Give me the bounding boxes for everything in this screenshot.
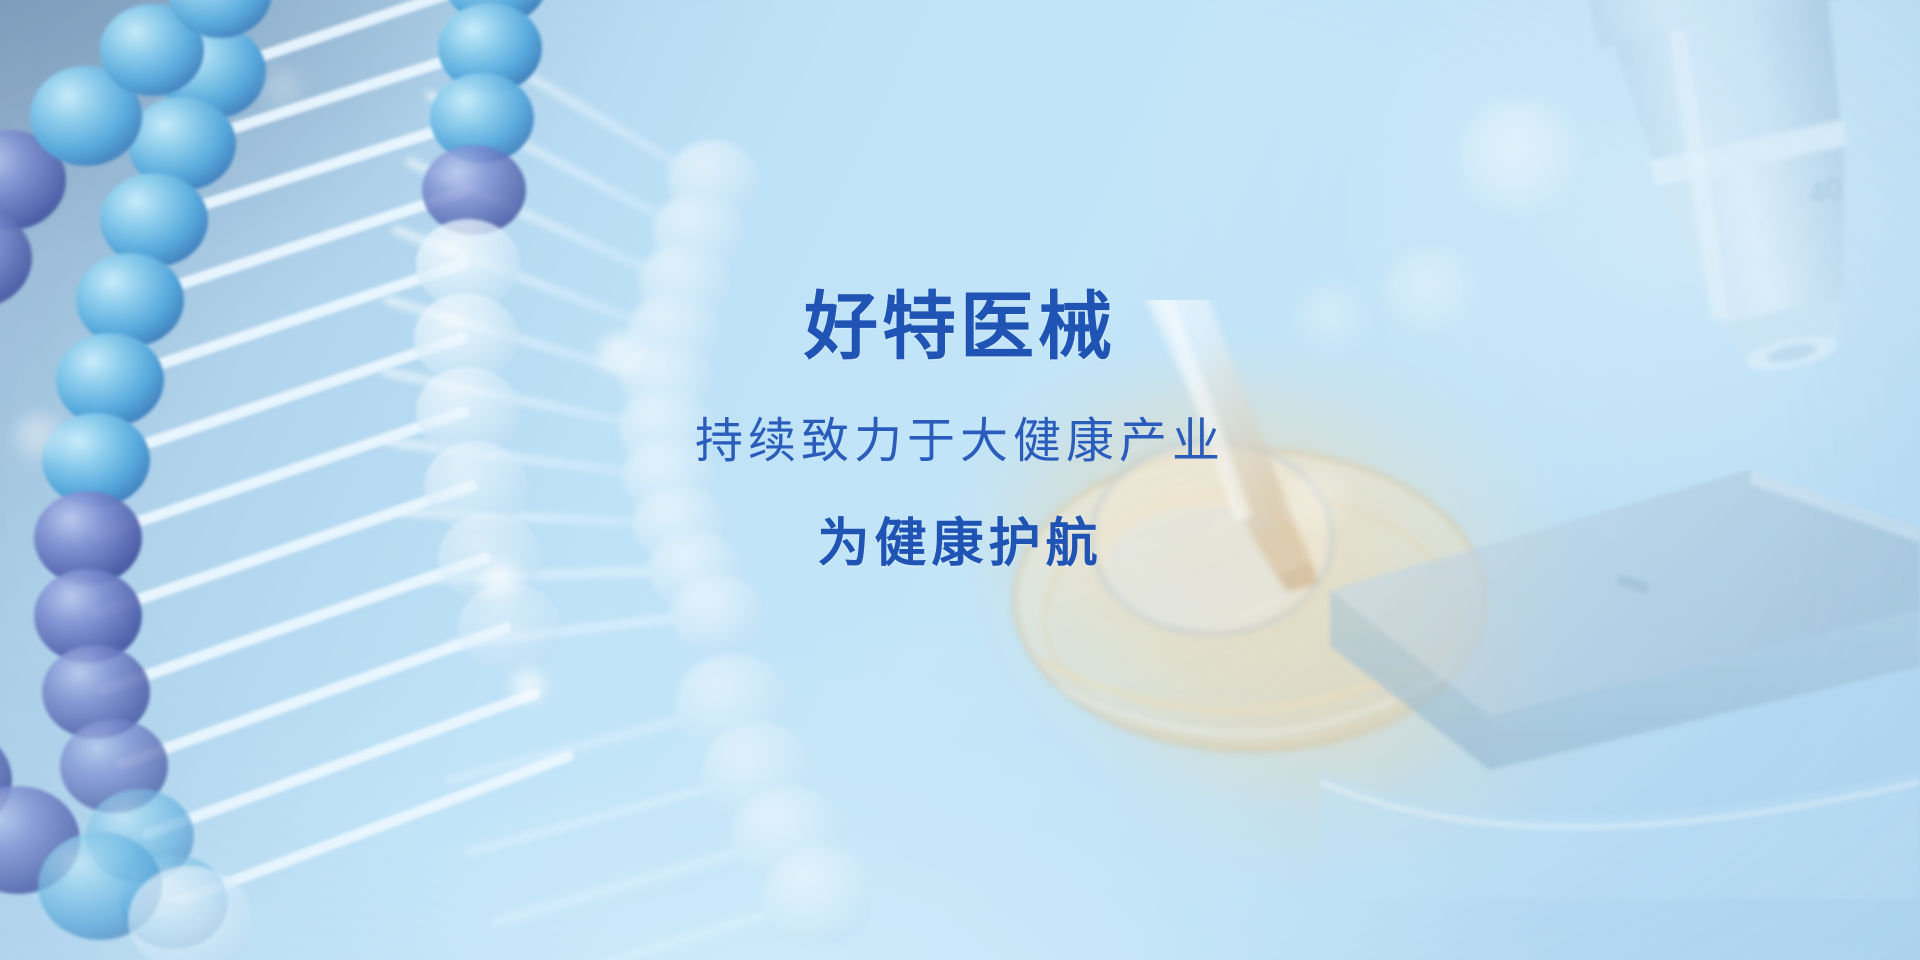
hero-text-block: 好特医械 持续致力于大健康产业 为健康护航: [0, 290, 1920, 570]
page-tagline: 为健康护航: [0, 518, 1920, 570]
page-title: 好特医械: [0, 290, 1920, 364]
hero-banner: 40: [0, 0, 1920, 960]
page-subtitle: 持续致力于大健康产业: [0, 418, 1920, 466]
